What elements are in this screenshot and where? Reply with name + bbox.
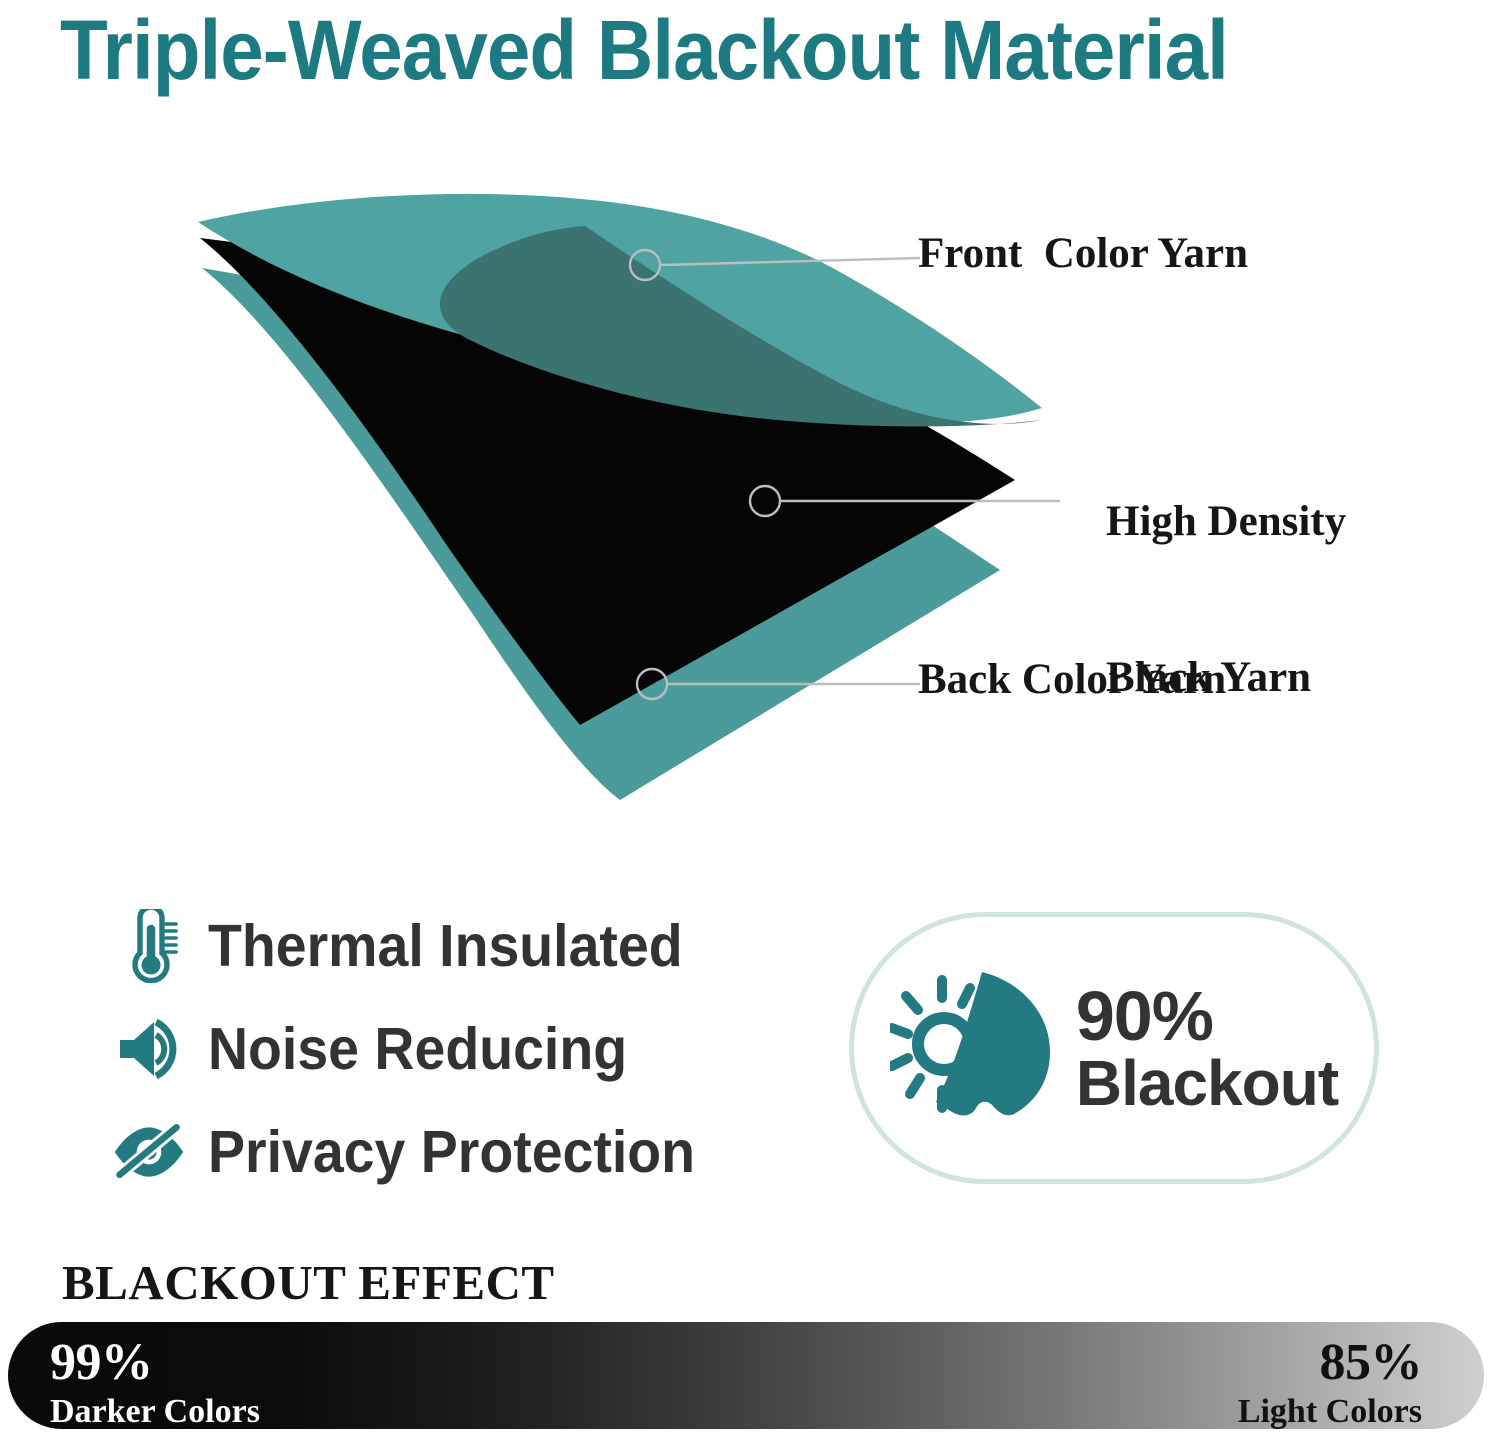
blackout-badge: 90% Blackout	[849, 912, 1379, 1184]
label-back-color-yarn: Back Color Yarn	[918, 654, 1226, 706]
badge-text: 90% Blackout	[1076, 981, 1338, 1115]
sun-blocked-icon	[890, 968, 1058, 1128]
badge-word: Blackout	[1076, 1051, 1338, 1115]
label-black-yarn: High Density Black Yarn	[1106, 392, 1346, 808]
thermometer-icon	[112, 908, 186, 984]
stat-darker-colors: 99% Darker Colors	[50, 1337, 260, 1429]
feature-label: Thermal Insulated	[208, 915, 683, 977]
speaker-icon	[112, 1011, 186, 1087]
feature-privacy-protection: Privacy Protection	[112, 1104, 812, 1199]
feature-label: Noise Reducing	[208, 1018, 627, 1080]
infographic-page: Triple-Weaved Blackout Material	[0, 0, 1492, 1439]
feature-noise-reducing: Noise Reducing	[112, 1001, 812, 1096]
label-front-color-yarn: Front Color Yarn	[918, 228, 1248, 280]
feature-label: Privacy Protection	[208, 1121, 695, 1183]
label-black-yarn-line1: High Density	[1106, 496, 1346, 548]
stat-light-colors: 85% Light Colors	[1238, 1337, 1422, 1429]
badge-percent: 90%	[1076, 981, 1338, 1051]
blackout-effect-heading: BLACKOUT EFFECT	[62, 1255, 555, 1311]
eye-off-icon	[112, 1114, 186, 1190]
page-title: Triple-Weaved Blackout Material	[60, 2, 1362, 98]
feature-list: Thermal Insulated Noise Reducing	[112, 898, 812, 1207]
stat-light-value: 85%	[1238, 1337, 1422, 1389]
stat-darker-value: 99%	[50, 1337, 260, 1389]
stat-light-caption: Light Colors	[1238, 1395, 1422, 1429]
feature-thermal-insulated: Thermal Insulated	[112, 898, 812, 993]
stat-darker-caption: Darker Colors	[50, 1395, 260, 1429]
